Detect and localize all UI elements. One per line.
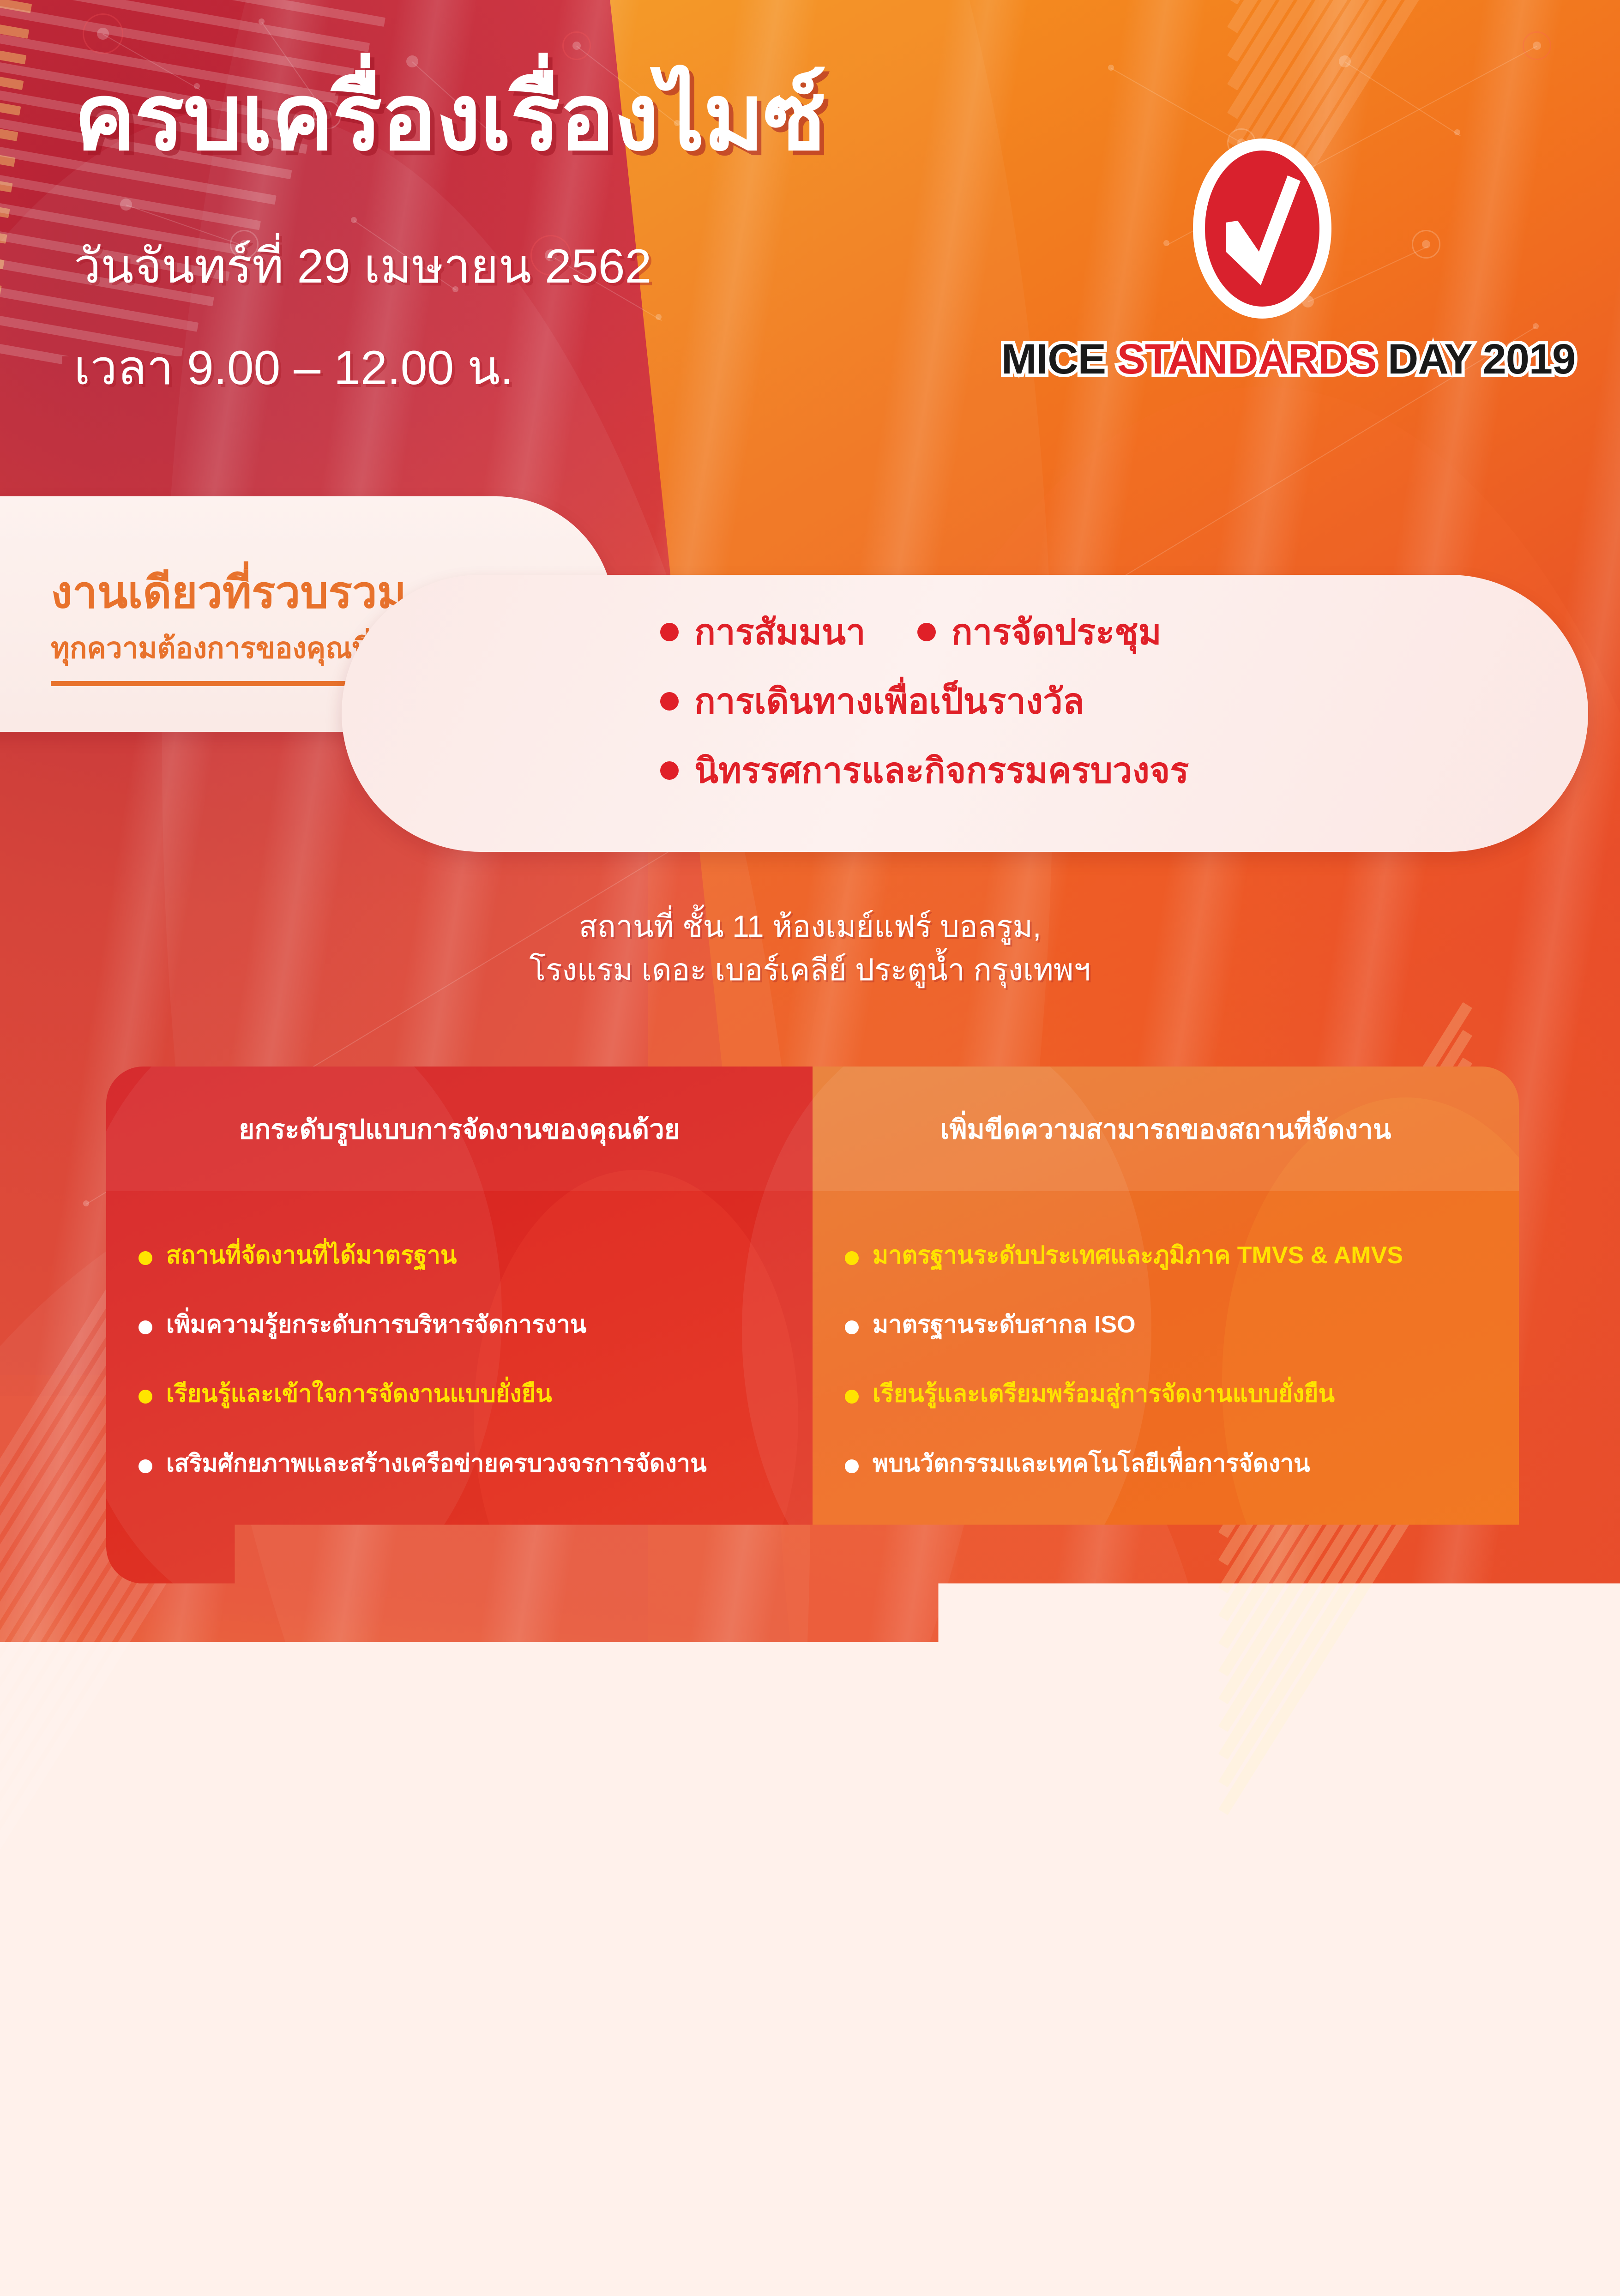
feature-columns: ยกระดับรูปแบบการจัดงานของคุณด้วย สถานที่… bbox=[106, 1067, 1519, 1584]
logo-word-day-year: DAY 2019 bbox=[1388, 336, 1575, 383]
ema-subtitle-line-1: BUSINESS OF CREATIVE AND bbox=[813, 2229, 951, 2239]
column-heading: เพิ่มขีดความสามารถของสถานที่จัดงาน bbox=[813, 1067, 1519, 1191]
tha-subtitle: THAI HOTELS ASSOCIATION bbox=[1103, 2249, 1214, 2272]
tceb-flame-icon bbox=[570, 2174, 635, 2225]
logo-wordmark: MICE STANDARDS DAY 2019 bbox=[1001, 335, 1523, 384]
tceb-logo: TCEB THAILAND CONVENTION & EXHIBITION BU… bbox=[545, 2174, 660, 2285]
bizconnect-label: BizConnect Application bbox=[489, 1888, 651, 1942]
list-item: มาตรฐานระดับสากล ISO bbox=[845, 1311, 1487, 1338]
bullet-dot-icon bbox=[845, 1390, 859, 1404]
bullet-dot-icon bbox=[660, 623, 679, 641]
column-list: มาตรฐานระดับประเทศและภูมิภาค TMVS & AMVS… bbox=[813, 1191, 1519, 1477]
bullet-dot-icon bbox=[660, 692, 679, 711]
organized-by-label: organized by bbox=[249, 2200, 361, 2222]
bullet-dot-icon bbox=[139, 1251, 152, 1265]
mice-standards-day-logo: MICE STANDARDS DAY 2019 bbox=[1001, 139, 1523, 384]
list-item: เรียนรู้และเข้าใจการจัดงานแบบยั่งยืน bbox=[139, 1380, 780, 1407]
qr-code-google-play[interactable] bbox=[720, 1736, 845, 1861]
tica-subtitle-line-1: THAILAND INCENTIVE AND bbox=[1205, 2231, 1491, 2247]
tica-subtitle: THAILAND INCENTIVE AND CONVENTION ASSOCI… bbox=[1205, 2231, 1491, 2262]
column-heading: ยกระดับรูปแบบการจัดงานของคุณด้วย bbox=[106, 1067, 813, 1191]
app-name-line-2: Application bbox=[489, 1915, 651, 1942]
mice-capabilities-text: MICE Capabilities Development bbox=[355, 2187, 480, 2262]
venue-block: สถานที่ ชั้น 11 ห้องเมย์แฟร์ บอลรูม, โรง… bbox=[0, 905, 1620, 991]
event-date: วันจันทร์ที่ 29 เมษายน 2562 bbox=[74, 240, 651, 293]
app-store-badge[interactable]: Download on the App Store bbox=[863, 1888, 1006, 1929]
tha-logo: THA THAI HOTELS ASSOCIATION bbox=[1103, 2169, 1214, 2272]
tica-subtitle-line-2: CONVENTION ASSOCIATION bbox=[1205, 2247, 1491, 2263]
mice-capabilities-line-3: Development bbox=[355, 2248, 480, 2262]
topic-item: การสัมมนา bbox=[694, 604, 866, 660]
bullet-dot-icon bbox=[139, 1320, 152, 1334]
topic-item: การเดินทางเพื่อเป็นรางวัล bbox=[694, 674, 1084, 729]
tceb-subtitle-line-2: & EXHIBITION BUREAU bbox=[545, 2274, 660, 2285]
logo-word-standards: STANDARDS bbox=[1117, 336, 1377, 383]
topics-row-3: นิทรรศการและกิจกรรมครบวงจร bbox=[660, 743, 1560, 798]
ema-subtitle-line-2: EVENT MANAGEMENT ASSOCIATION bbox=[813, 2240, 951, 2266]
footnote-line-1: * เนื่องจากงานที่จัดขึ้นเป็นรูปแบบการจัด… bbox=[1090, 2011, 1620, 2037]
tceb-subtitle-line-1: THAILAND CONVENTION bbox=[545, 2262, 660, 2274]
ema-triangle-icon bbox=[872, 2182, 912, 2226]
topics-row-2: การเดินทางเพื่อเป็นรางวัล bbox=[660, 674, 1560, 729]
google-play-text: ANDROID APP ON Google play bbox=[746, 1885, 846, 1932]
list-item: พบนวัตกรรมและเทคโนโลยีเพื่อการจัดงาน bbox=[845, 1450, 1487, 1477]
app-name-line-1: BizConnect bbox=[489, 1888, 651, 1915]
list-item-label: เสริมศักยภาพและสร้างเครือข่ายครบวงจรการจ… bbox=[166, 1450, 707, 1477]
topics-row-1: การสัมมนา การจัดประชุม bbox=[660, 604, 1560, 660]
list-item-label: สถานที่จัดงานที่ได้มาตรฐาน bbox=[166, 1242, 457, 1269]
google-play-badge[interactable]: ANDROID APP ON Google play bbox=[711, 1888, 854, 1929]
topic-item: นิทรรศการและกิจกรรมครบวงจร bbox=[694, 743, 1189, 798]
bullet-dot-icon bbox=[917, 623, 936, 641]
ema-wordmark: EM bbox=[813, 2190, 873, 2226]
check-oval-icon bbox=[1193, 139, 1331, 319]
app-store-small-text: Download on the bbox=[897, 1894, 986, 1903]
page-title: ครบเครื่องเรื่องไมซ์ bbox=[74, 69, 825, 166]
tica-wordmark: TICA bbox=[1205, 2174, 1491, 2226]
feature-column-right: เพิ่มขีดความสามารถของสถานที่จัดงาน มาตรฐ… bbox=[813, 1067, 1519, 1584]
google-play-big-text: Google play bbox=[746, 1895, 846, 1932]
list-item-label: มาตรฐานระดับประเทศและภูมิภาค TMVS & AMVS bbox=[873, 1242, 1403, 1269]
mice-capabilities-line-1: MICE bbox=[355, 2187, 480, 2214]
topics-list: การสัมมนา การจัดประชุม การเดินทางเพื่อเป… bbox=[660, 604, 1560, 812]
feature-column-left: ยกระดับรูปแบบการจัดงานของคุณด้วย สถานที่… bbox=[106, 1067, 813, 1584]
list-item-label: เรียนรู้และเข้าใจการจัดงานแบบยั่งยืน bbox=[166, 1380, 552, 1407]
tea-wordmark: TEA bbox=[979, 2181, 1108, 2217]
list-item-label: พบนวัตกรรมและเทคโนโลยีเพื่อการจัดงาน bbox=[873, 1450, 1310, 1477]
google-play-small-text: ANDROID APP ON bbox=[746, 1885, 846, 1893]
column-list: สถานที่จัดงานที่ได้มาตรฐาน เพิ่มความรู้ย… bbox=[106, 1191, 813, 1477]
tea-subtitle-english: THAI EXHIBITION ASSOCIATION bbox=[979, 2238, 1108, 2260]
list-item: มาตรฐานระดับประเทศและภูมิภาค TMVS & AMVS bbox=[845, 1242, 1487, 1269]
ema-logo: EM BUSINESS OF CREATIVE AND EVENT MANAGE… bbox=[813, 2182, 951, 2266]
app-store-big-text: App Store bbox=[897, 1904, 986, 1923]
footnote-block: * เนื่องจากงานที่จัดขึ้นเป็นรูปแบบการจัด… bbox=[1057, 1995, 1620, 2102]
list-item-label: มาตรฐานระดับสากล ISO bbox=[873, 1311, 1136, 1338]
supported-by-label: supported by bbox=[675, 2200, 787, 2222]
list-item: เสริมศักยภาพและสร้างเครือข่ายครบวงจรการจ… bbox=[139, 1450, 780, 1477]
list-item: เรียนรู้และเตรียมพร้อมสู่การจัดงานแบบยั่… bbox=[845, 1380, 1487, 1407]
bizconnect-app-icon bbox=[503, 1741, 637, 1874]
tea-logo: TEA สมาคมการแสดงสินค้า(ไทย) THAI EXHIBIT… bbox=[979, 2181, 1108, 2260]
poster-root: ครบเครื่องเรื่องไมซ์ วันจันทร์ที่ 29 เมษ… bbox=[0, 0, 1620, 2296]
tceb-wordmark: TCEB bbox=[545, 2229, 660, 2259]
footer: organized by MICE Capabilities Developme… bbox=[0, 2148, 1620, 2296]
tha-spire-icon bbox=[1124, 2169, 1193, 2213]
qr-code-app-store[interactable] bbox=[873, 1736, 997, 1861]
topics-panel: การสัมมนา การจัดประชุม การเดินทางเพื่อเป… bbox=[342, 575, 1588, 852]
bullet-dot-icon bbox=[845, 1320, 859, 1334]
pinwheel-burst-icon bbox=[466, 2179, 549, 2262]
registration-instruction: ลงทะเบียนได้ที่ : สแกนคิวอาร์โค้ด เพื่อด… bbox=[0, 1653, 1620, 1698]
intro-panel-title: งานเดียวที่รวบรวม bbox=[51, 557, 406, 627]
venue-line-1: สถานที่ ชั้น 11 ห้องเมย์แฟร์ บอลรูม, bbox=[0, 905, 1620, 948]
mice-capabilities-divider bbox=[355, 2244, 456, 2245]
bullet-dot-icon bbox=[845, 1251, 859, 1265]
list-item-label: เพิ่มความรู้ยกระดับการบริหารจัดการงาน bbox=[166, 1311, 586, 1338]
list-item: สถานที่จัดงานที่ได้มาตรฐาน bbox=[139, 1242, 780, 1269]
footnote-line-2: ขอเชิญชวนผู้ที่มาร่วมงานทุกท่านนำภาชนะใส… bbox=[1090, 2037, 1620, 2064]
list-item: เพิ่มความรู้ยกระดับการบริหารจัดการงาน bbox=[139, 1311, 780, 1338]
app-store-text: Download on the App Store bbox=[897, 1894, 986, 1923]
bullet-dot-icon bbox=[845, 1459, 859, 1473]
event-time: เวลา 9.00 – 12.00 น. bbox=[74, 342, 513, 394]
list-item-label: เรียนรู้และเตรียมพร้อมสู่การจัดงานแบบยั่… bbox=[873, 1380, 1335, 1407]
app-download-section: BizConnect Application ANDROID APP ON Go… bbox=[489, 1736, 1168, 2022]
mice-capabilities-line-2: Capabilities bbox=[355, 2216, 480, 2241]
topic-item: การจัดประชุม bbox=[952, 604, 1162, 660]
venue-line-2: โรงแรม เดอะ เบอร์เคลีย์ ประตูน้ำ กรุงเทพ… bbox=[0, 948, 1620, 992]
bullet-dot-icon bbox=[660, 761, 679, 780]
tea-subtitle-thai: สมาคมการแสดงสินค้า(ไทย) bbox=[979, 2220, 1108, 2236]
apple-icon bbox=[872, 1897, 891, 1920]
logo-word-mice: MICE bbox=[1001, 336, 1106, 383]
google-play-icon bbox=[719, 1897, 740, 1920]
tceb-subtitle: THAILAND CONVENTION & EXHIBITION BUREAU bbox=[545, 2262, 660, 2285]
tica-logo: TICA THAILAND INCENTIVE AND CONVENTION A… bbox=[1205, 2174, 1491, 2262]
bullet-dot-icon bbox=[139, 1459, 152, 1473]
tha-wordmark: THA bbox=[1103, 2215, 1214, 2246]
footnote-line-3: ** เข้าร่วมกิจกรรมโดยไม่มีค่าใช้จ่าย bbox=[1090, 2064, 1620, 2090]
ema-mark: EM bbox=[813, 2182, 951, 2226]
mice-capabilities-logo: MICE Capabilities Development bbox=[355, 2177, 540, 2269]
bullet-dot-icon bbox=[139, 1390, 152, 1404]
